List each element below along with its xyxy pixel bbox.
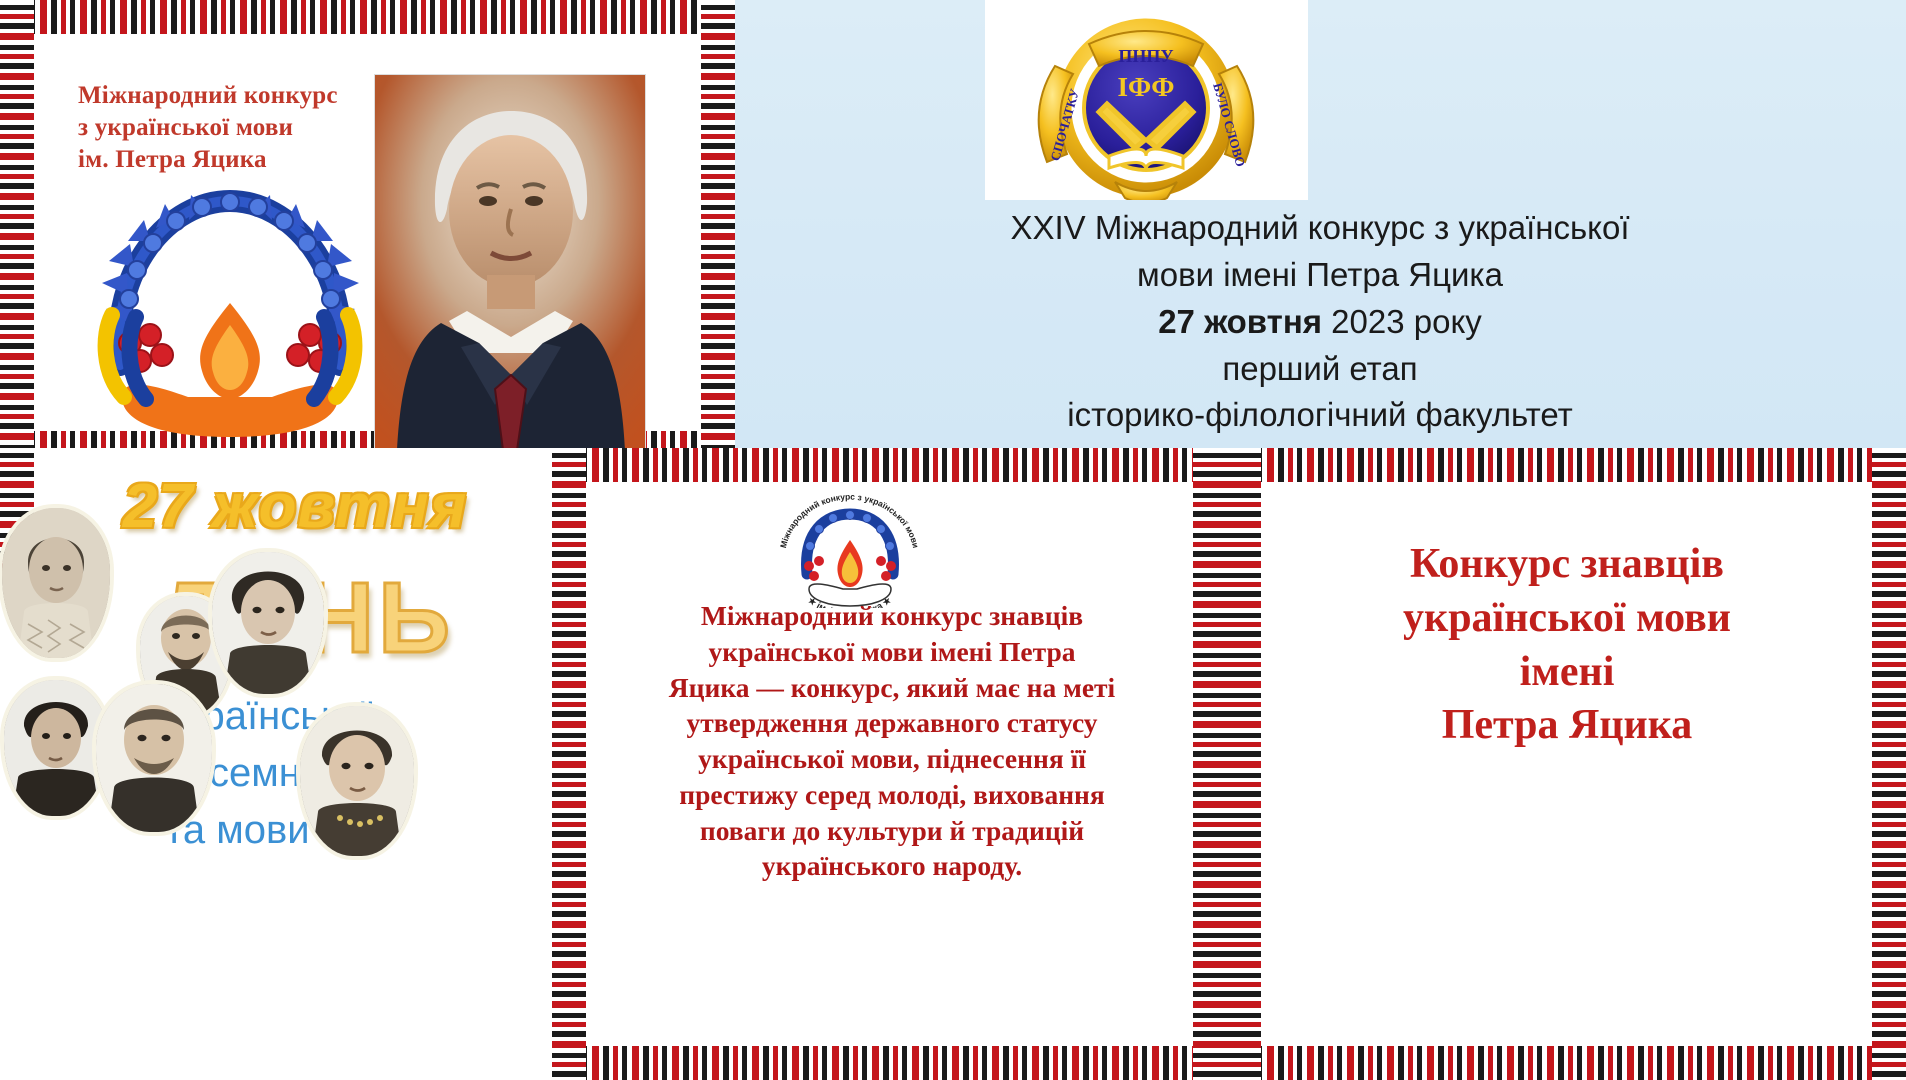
contest-title-text: Конкурс знавців української мови імені П… [1267,538,1867,753]
contest-title-line-4: Петра Яцика [1267,699,1867,753]
description-line-3: Яцика — конкурс, який має на меті [592,670,1192,706]
round-logo-caption-top: Міжнародний конкурс з української мови [778,492,921,549]
contest-title-line-1: Конкурс знавців [1267,538,1867,592]
poster-panel: Міжнародний конкурс з української мови і… [0,0,735,465]
contest-title-line-3: імені [1267,646,1867,700]
description-line-6: престижу серед молоді, виховання [592,777,1192,813]
description-line-7: поваги до культури й традицій [592,813,1192,849]
embroidery-border-right [701,0,735,465]
embroidery-border-top [0,0,735,34]
description-line-2: української мови імені Петра [592,634,1192,670]
lesia-ukrainka-portrait [2,508,110,658]
yatsyk-contest-wreath-logo [88,175,373,440]
lina-kostenko-portrait [212,552,324,694]
poster-title-line-1: Міжнародний конкурс [78,80,378,112]
info-panel: ПНПУ СПОЧАТКУ БУЛО СЛОВО ІФФ [735,0,1906,450]
petro-yatsyk-portrait [375,75,645,450]
embroidery-border-bottom [1227,1046,1906,1080]
contest-title-panel: Конкурс знавців української мови імені П… [1227,448,1906,1080]
description-line-1: Міжнародний конкурс знавців [592,598,1192,634]
embroidery-border-left [1227,448,1261,1080]
poster-title-line-2: з української мови [78,112,378,144]
info-line-1: XXIV Міжнародний конкурс з української [775,205,1865,252]
embroidery-border-right [1193,448,1227,1080]
description-text: Міжнародний конкурс знавців української … [592,598,1192,884]
vasyl-stus-portrait [4,680,108,816]
yatsyk-contest-round-logo: Міжнародний конкурс з української мови ★… [767,488,932,608]
info-date-line: 27 жовтня 2023 року [775,299,1865,346]
embroidery-border-bottom [552,1046,1227,1080]
poster-title: Міжнародний конкурс з української мови і… [78,80,378,176]
svg-text:Міжнародний конкурс з українсь: Міжнародний конкурс з української мови [778,492,921,549]
embroidery-border-right [1872,448,1906,1080]
writing-day-date: 27 жовтня [95,476,495,538]
info-stage: перший етап [775,346,1865,393]
description-line-8: українського народу. [592,848,1192,884]
poster-title-line-3: ім. Петра Яцика [78,144,378,176]
info-text-block: XXIV Міжнародний конкурс з української м… [775,205,1865,439]
embroidery-border-left [0,0,34,465]
embroidery-border-left [552,448,586,1080]
writing-day-panel: 27 жовтня ДЕНЬ української писемності та… [0,448,552,1080]
info-line-2: мови імені Петра Яцика [775,252,1865,299]
description-line-5: української мови, піднесення її [592,741,1192,777]
info-faculty: історико-філологічний факультет [775,392,1865,439]
university-emblem-card: ПНПУ СПОЧАТКУ БУЛО СЛОВО ІФФ [985,0,1308,200]
info-date-rest: 2023 року [1322,303,1482,340]
embroidery-border-top [1227,448,1906,482]
info-date-bold: 27 жовтня [1158,303,1322,340]
embroidery-border-top [552,448,1227,482]
contest-title-line-2: української мови [1267,592,1867,646]
ivan-franko-portrait [96,684,212,832]
olena-pchilka-portrait [300,706,414,856]
pnpu-iff-emblem: ПНПУ СПОЧАТКУ БУЛО СЛОВО ІФФ [985,0,1308,200]
emblem-top-label: ПНПУ [1118,46,1173,66]
description-panel: Міжнародний конкурс з української мови ★… [552,448,1227,1080]
description-line-4: утвердження державного статусу [592,705,1192,741]
emblem-center-label: ІФФ [1118,72,1175,102]
